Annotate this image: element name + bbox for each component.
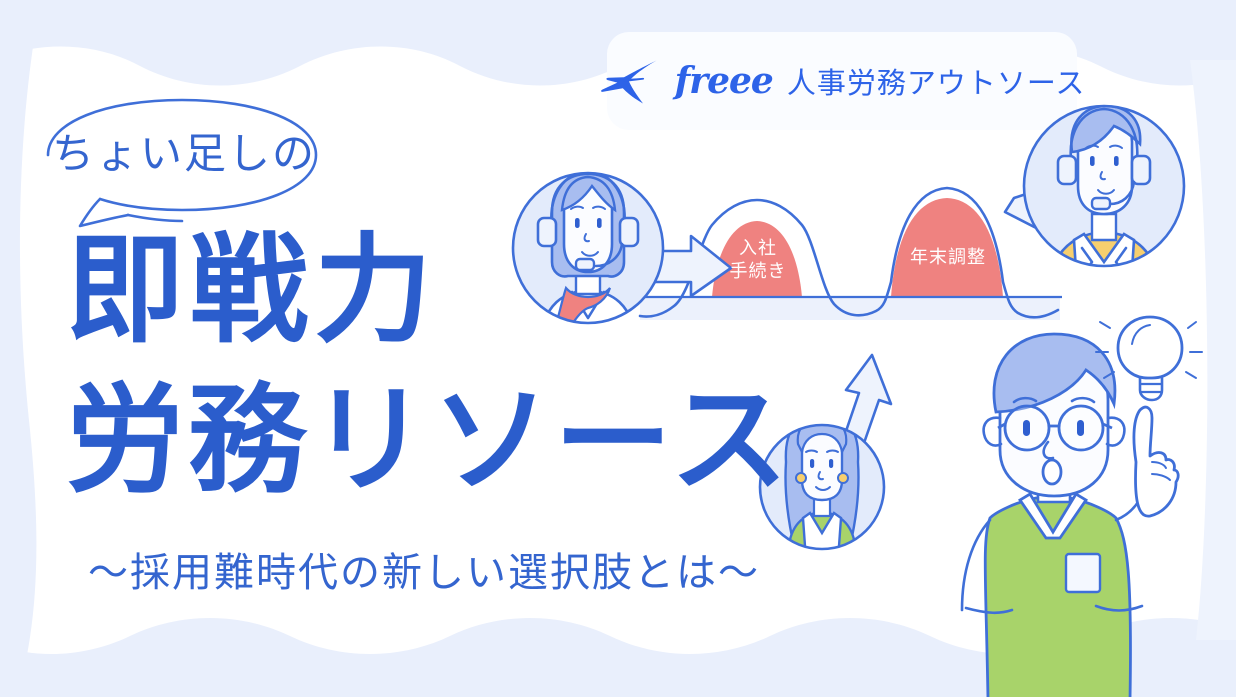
bubble-wrap: ちょい足しの [34, 96, 334, 221]
bubble-text: ちょい足しの [34, 96, 334, 204]
earring [838, 473, 848, 483]
headline-subtitle: ～採用難時代の新しい選択肢とは～ [88, 540, 760, 598]
shirt-pocket [1066, 554, 1100, 592]
headset-operator-female-avatar [513, 171, 663, 350]
glasses-man-pointing [962, 317, 1202, 697]
headset-operator-male-avatar [1024, 106, 1184, 300]
chart-peak-label-yearend: 年末調整 [895, 247, 1001, 270]
arrow-up-icon [844, 355, 891, 443]
earring [796, 473, 806, 483]
headline-line-1: 即戦力 [66, 228, 438, 353]
headline-line-2: 労務リソース [66, 378, 792, 503]
chart-area-fill [640, 297, 1060, 320]
hero-banner: freee 人事労務アウトソース .ln { fill:none; stroke… [0, 0, 1236, 697]
chart-peak-label-entry: 入社 手続き [718, 238, 798, 283]
